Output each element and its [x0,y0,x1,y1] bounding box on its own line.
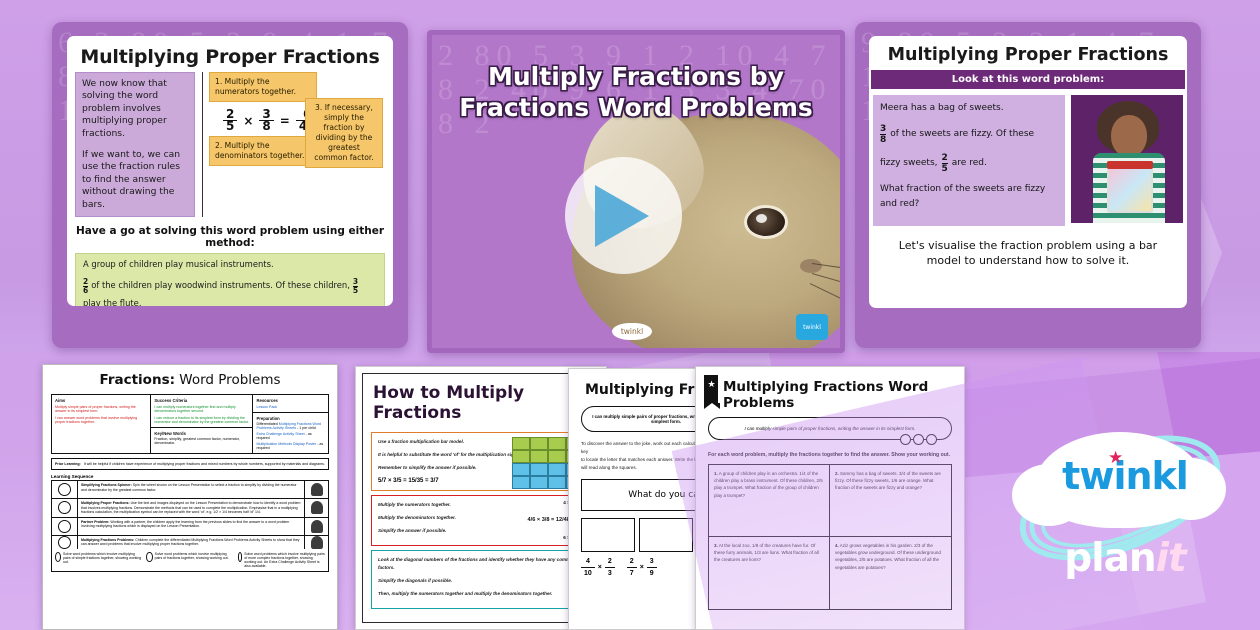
slide3-line-3: What fraction of the sweets are fizzy an… [880,182,1058,212]
slide3-title: Multiplying Proper Fractions [869,36,1187,70]
wp-problem-cell[interactable]: 2. Sammy has a bag of sweets. 3/4 of the… [830,465,951,537]
wp-problem-table: 1. A group of children play in an orches… [708,464,952,610]
sequence-row: Multiplying Proper Fractions: Use the te… [52,499,328,518]
slide3-fraction-1: 3 8 [880,124,886,145]
wp-header: ★ Multiplying Fractions Word Problems [696,367,964,411]
preparation-header: Preparation [256,416,325,421]
girl-with-sweets-photo [1071,95,1183,223]
learning-sequence-table: Simplifying Fractions Spinner: Spin the … [51,480,329,572]
difficulty-option: Solve word problems which involve multip… [238,552,325,568]
rabbit-eye [744,205,788,239]
twinkl-badge-label: twinkl [803,324,821,331]
video-background: 2 80 5 3 9 1 2 10 4 7 8 2 40 9 6 1 5 3 4… [432,35,840,348]
slide1-problem-fraction-1: 2 6 [83,278,88,295]
answer-cell[interactable] [581,518,635,552]
star-icon: ★ [1108,448,1123,468]
slide1-problem-line-2b: play the flute. [83,298,141,306]
slide3-banner: Look at this word problem: [871,70,1185,89]
how-method-3-box: Look at the diagonal numbers of the frac… [371,550,591,609]
video-title-line-2: Fractions Word Problems [442,92,830,123]
wp-problem-cell[interactable]: 4. Aziz grows vegetables in his garden. … [830,537,951,609]
how-box2-line3: Simplify the answer if possible. [378,527,584,535]
keywords-text: Fraction, simplify, greatest common fact… [154,437,249,445]
wp-title: Multiplying Fractions Word Problems [723,375,954,411]
prior-learning-header: Prior Learning: [55,462,81,466]
slide3-line-2a: of the sweets are fizzy. Of these [890,127,1034,142]
how-doc-border: How to Multiply Fractions Use a fraction… [362,373,600,623]
video-title-line-1: Multiply Fractions by [442,61,830,92]
joke-calc-2: 27 × 39 [627,556,657,579]
aims-header: Aims [55,398,147,403]
slide-thumbnail-word-problem[interactable]: 9 80 5 2 3 1 4 7 10 2 40 8 6 3 5 9 1 2 7… [855,22,1201,348]
logo-brand-text: twinkl [1012,454,1238,498]
problem-text: A group of children play in an orchestra… [714,471,823,498]
bell-icon [304,536,328,549]
plan-keywords-cell: Key/New Words Fraction, simplify, greate… [151,427,252,446]
how-doc-title: How to Multiply Fractions [373,383,589,423]
sequence-title: Multiplying Fractions Problems: [81,538,134,542]
difficulty-option: Solve word problems which involve multip… [146,552,233,568]
sequence-title: Multiplying Proper Fractions: [81,501,130,505]
fraction-b: 3 8 [259,109,273,132]
frac-num: 3 [880,124,886,135]
plan-preparation-cell: Preparation Differentiated Multiplying F… [253,412,328,451]
fraction-a: 2 5 [223,109,237,132]
wp-objective: I can multiply simple pairs of proper fr… [708,417,952,440]
difficulty-text: Solve word problems which involve multip… [63,552,142,564]
learning-sequence-header: Learning Sequence [51,474,329,479]
fraction-a-den: 5 [223,121,237,132]
wp-problem-cell[interactable]: 1. A group of children play in an orches… [709,465,830,537]
plan-title-rest: Word Problems [175,372,281,388]
frac2-den: 5 [353,286,358,295]
plan-resources-cell: Resources Lesson Pack Preparation Differ… [253,395,328,453]
wp-problem-cell[interactable]: 3. At the local zoo, 1/8 of the creature… [709,537,830,609]
bell-icon [304,481,328,498]
difficulty-text: Solve word problems which involve multip… [244,552,325,568]
plan-success-cell: Success Criteria I can multiply numerato… [151,395,253,453]
twinkl-planit-logo[interactable]: ★ twinkl planit [1012,424,1238,604]
rabbit-whisker [810,283,840,311]
problem-text: Aziz grows vegetables in his garden. 2/3… [835,543,941,570]
prep-item-3: Multiplication Methods Display Poster - … [256,442,325,450]
answer-cell[interactable] [639,518,693,552]
times-symbol: × [243,114,253,128]
resources-link[interactable]: Lesson Pack [256,405,325,409]
sequence-row: Partner Problem: Working with a partner,… [52,518,328,536]
slide3-line-2c: are red. [952,156,987,171]
slide1-step-1: 1. Multiply the numerators together. [209,72,317,102]
prior-learning-text: It will be helpful if children have expe… [84,462,325,466]
sequence-text: Multiplying Proper Fractions: Use the te… [78,499,304,517]
how-doc-header: How to Multiply Fractions [363,374,599,428]
success-item-2: I can reduce a fraction to its simplest … [154,416,249,424]
two-dot-icon [146,552,152,562]
slide1-prompt: Have a go at solving this word problem u… [67,225,393,249]
aims-item-1: Multiply simple pairs of proper fraction… [55,405,147,413]
one-dot-icon [55,552,61,562]
slide1-para-2: If we want to, we can use the fraction r… [82,149,188,211]
question-face-icon [52,481,78,498]
slide3-footer: Let's visualise the fraction problem usi… [869,226,1187,268]
twinkl-watermark: twinkl [612,323,652,340]
joke-frac-2b: 39 [647,556,657,579]
sequence-text: Multiplying Fractions Problems: Children… [78,536,304,549]
joke-frac-1a: 410 [581,556,595,579]
aims-item-2: I can answer word problems that involve … [55,416,147,424]
sequence-text: Simplifying Fractions Spinner: Spin the … [78,481,304,498]
frac-num: 2 [942,153,948,164]
prep-item-2: Extra Challenge Activity Sheet - as requ… [256,432,325,440]
fraction-b-den: 8 [259,121,273,132]
logo-plan-text: plan [1064,536,1155,581]
frac-den: 8 [880,135,886,145]
joke-frac-2a: 27 [627,556,637,579]
success-header: Success Criteria [154,398,249,403]
equals-symbol-1: = [280,114,290,128]
slide1-problem-line-2a: of the children play woodwind instrument… [91,280,350,292]
slide-thumbnail-multiplying-proper-fractions[interactable]: 6 2 80 5 3 9 4 1 7 8 10 2 40 3 5 2 9 1 6… [52,22,408,348]
slide1-word-problem: A group of children play musical instrum… [75,253,385,306]
problem-number: 2. [835,471,839,476]
success-item-1: I can multiply numerators together first… [154,405,249,413]
slide3-line-1: Meera has a bag of sweets. [880,101,1004,116]
differentiation-options: Solve word problems which involve multip… [52,549,328,571]
slide1-problem-line-1: A group of children play musical instrum… [83,259,274,271]
problem-text: Sammy has a bag of sweets. 3/4 of the sw… [835,471,941,490]
plan-grid: Aims Multiply simple pairs of proper fra… [51,394,329,454]
slide1-title: Multiplying Proper Fractions [67,36,393,72]
word-problems-worksheet[interactable]: ★ Multiplying Fractions Word Problems I … [695,366,965,630]
how-method-1-box: Use a fraction multiplication bar model.… [371,432,591,491]
twinkl-badge-icon: twinkl [796,314,828,340]
keywords-header: Key/New Words [154,431,249,436]
smile-face-icon [52,536,78,549]
partner-face-icon [52,518,78,535]
how-box2-line1: Multiply the numerators together. [378,501,584,509]
prep-item-1: Differentiated Multiplying Fractions Wor… [256,422,325,430]
wp-objective-text: I can multiply simple pairs of proper fr… [744,426,915,431]
video-thumbnail-multiply-fractions[interactable]: 2 80 5 3 9 1 2 10 4 7 8 2 40 9 6 1 5 3 4… [427,30,845,353]
logo-planit-text: planit [1012,536,1238,581]
frac1-den: 6 [83,286,88,295]
problem-number: 1. [714,471,718,476]
joke-op-1: × [598,564,602,571]
problem-number: 3. [714,543,718,548]
slide1-problem-fraction-2: 3 5 [353,278,358,295]
speech-bubble-dots-icon [900,434,937,445]
problem-text: At the local zoo, 1/8 of the creatures h… [714,543,819,562]
logo-it-text: it [1156,536,1186,581]
sequence-row: Simplifying Fractions Spinner: Spin the … [52,481,328,499]
how-box3-line1: Look at the diagonal numbers of the frac… [378,556,584,572]
sweets-jar [1107,167,1153,213]
slide-content: Multiplying Proper Fractions Look at thi… [869,36,1187,308]
joke-frac-1b: 23 [605,556,615,579]
slide1-para-1: We now know that solving the word proble… [82,78,188,140]
difficulty-option: Solve word problems which involve multip… [55,552,142,568]
sweets-jar-lid [1107,161,1153,169]
play-triangle-icon[interactable] [595,185,649,247]
star-ribbon-icon: ★ [704,375,718,403]
frac-den: 5 [942,164,948,174]
sequence-title: Simplifying Fractions Spinner: [81,483,132,487]
plan-title-bold: Fractions: [99,372,175,388]
sequence-title: Partner Problem: [81,520,109,524]
bell-icon [304,518,328,535]
difficulty-text: Solve word problems which involve multip… [155,552,234,560]
prep-1-post: - 1 per child [296,426,316,430]
resources-header: Resources [256,398,325,403]
bell-icon [304,499,328,517]
slide3-fraction-2: 2 5 [942,153,948,174]
plan-aims-cell: Aims Multiply simple pairs of proper fra… [52,395,151,453]
video-title: Multiply Fractions by Fractions Word Pro… [432,61,840,123]
how-box3-line3: Then, multiply the numerators together a… [378,590,584,598]
prior-learning-row: Prior Learning: It will be helpful if ch… [51,458,329,470]
how-box3-line2: Simplify the diagonals if possible. [378,577,584,585]
slide1-explanation-panel: We now know that solving the word proble… [75,72,195,217]
sequence-text: Partner Problem: Working with a partner,… [78,518,304,535]
joke-op-2: × [640,564,644,571]
plan-title: Fractions: Word Problems [43,365,337,394]
how-method-2-box: 4 × 3 = 12 Multiply the numerators toget… [371,495,591,546]
rabbit-nose [800,259,822,273]
wp-instruction: For each word problem, multiply the frac… [708,451,952,459]
girl-face [1111,115,1147,157]
slide1-step-3: 3. If necessary, simply the fraction by … [305,98,383,168]
lesson-plan-document[interactable]: Fractions: Word Problems Aims Multiply s… [42,364,338,630]
three-dot-icon [238,552,243,562]
slide-content: Multiplying Proper Fractions We now know… [67,36,393,306]
slide3-line-2b: fizzy sweets, [880,156,938,171]
problem-number: 4. [835,543,839,548]
joke-calc-1: 410 × 23 [581,556,615,579]
sequence-body: Working with a partner, the children app… [81,520,289,529]
slide3-problem-text: Meera has a bag of sweets. 3 8 of the sw… [873,95,1065,226]
sequence-row: Multiplying Fractions Problems: Children… [52,536,328,571]
thinking-face-icon [52,499,78,517]
